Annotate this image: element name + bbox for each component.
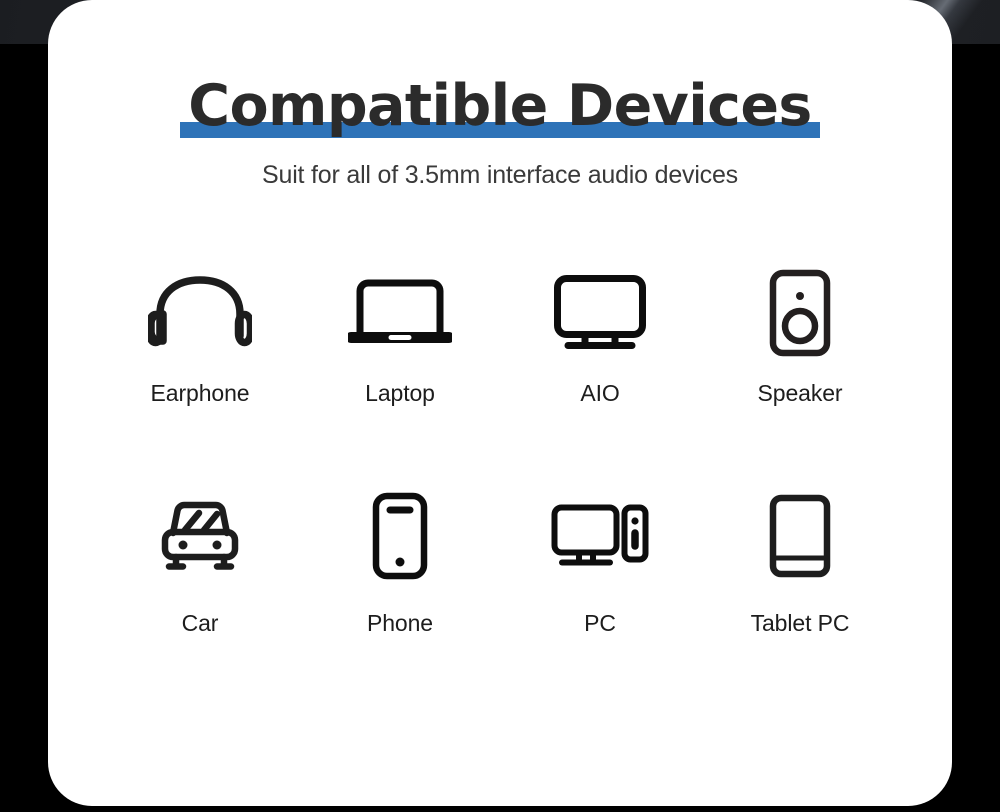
car-icon: [158, 484, 242, 588]
device-label: Car: [182, 610, 219, 637]
device-grid: Earphone Laptop: [100, 258, 900, 710]
device-item-aio: AIO: [500, 258, 700, 484]
promo-banner: Compatible Devices Suit for all of 3.5mm…: [0, 0, 1000, 812]
device-item-phone: Phone: [300, 484, 500, 710]
phone-icon: [372, 484, 428, 588]
device-label: Speaker: [758, 380, 843, 407]
device-item-laptop: Laptop: [300, 258, 500, 484]
speaker-icon: [769, 258, 831, 368]
device-label: PC: [584, 610, 616, 637]
header-block: Compatible Devices Suit for all of 3.5mm…: [48, 78, 952, 190]
headphone-icon: [148, 258, 252, 368]
device-item-car: Car: [100, 484, 300, 710]
device-item-earphone: Earphone: [100, 258, 300, 484]
device-label: AIO: [580, 380, 619, 407]
page-subtitle: Suit for all of 3.5mm interface audio de…: [48, 161, 952, 190]
desktop-pc-icon: [551, 484, 649, 588]
device-label: Phone: [367, 610, 433, 637]
device-label: Laptop: [365, 380, 435, 407]
monitor-icon: [552, 258, 648, 368]
tablet-icon: [769, 484, 831, 588]
laptop-icon: [348, 258, 452, 368]
device-label: Tablet PC: [751, 610, 850, 637]
content-card: Compatible Devices Suit for all of 3.5mm…: [48, 0, 952, 806]
device-item-tablet-pc: Tablet PC: [700, 484, 900, 710]
device-item-speaker: Speaker: [700, 258, 900, 484]
device-item-pc: PC: [500, 484, 700, 710]
device-label: Earphone: [151, 380, 250, 407]
title-holder: Compatible Devices: [188, 78, 812, 135]
page-title: Compatible Devices: [188, 78, 812, 135]
